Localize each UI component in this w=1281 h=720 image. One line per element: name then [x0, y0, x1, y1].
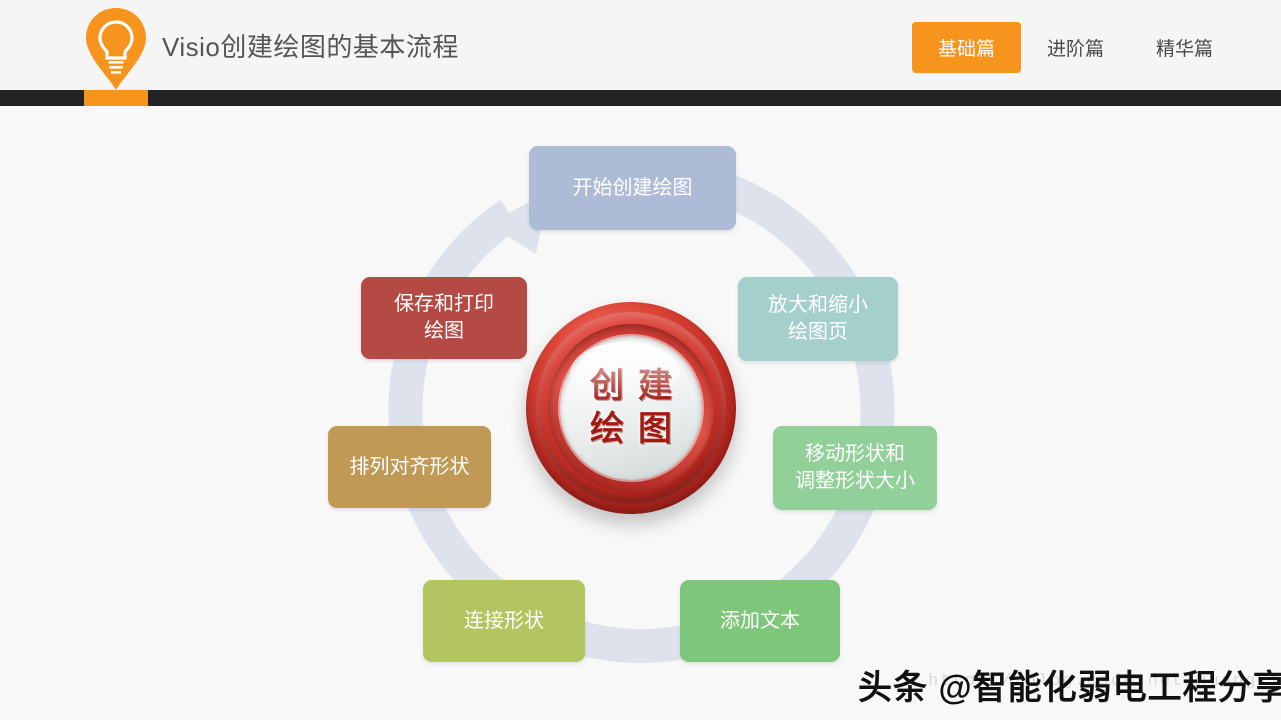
lightbulb-pin-icon: [84, 6, 148, 92]
header-divider-accent: [84, 90, 148, 106]
emblem-face: 创建 绘图: [560, 336, 702, 480]
node-start[interactable]: 开始创建绘图: [529, 146, 736, 230]
node-text[interactable]: 添加文本: [680, 580, 840, 662]
header-divider-bar: [0, 90, 1281, 106]
node-zoom[interactable]: 放大和缩小 绘图页: [738, 277, 898, 361]
brand-watermark: 头条 @智能化弱电工程分享: [858, 660, 1281, 709]
emblem-text-line2: 绘图: [576, 411, 686, 448]
center-emblem: 创建 绘图: [526, 302, 736, 514]
emblem-text-line1: 创建: [576, 368, 686, 405]
node-connect[interactable]: 连接形状: [423, 580, 585, 662]
tab-jichu[interactable]: 基础篇: [912, 22, 1021, 73]
diagram-stage: 创建 绘图 开始创建绘图 放大和缩小 绘图页 移动形状和 调整形状大小 添加文本…: [0, 106, 1281, 720]
section-tabs: 基础篇 进阶篇 精华篇: [912, 22, 1239, 73]
node-move[interactable]: 移动形状和 调整形状大小: [773, 426, 937, 510]
page-title: Visio创建绘图的基本流程: [162, 27, 459, 64]
node-save[interactable]: 保存和打印 绘图: [361, 277, 527, 359]
node-align[interactable]: 排列对齐形状: [328, 426, 491, 508]
app-header: Visio创建绘图的基本流程 基础篇 进阶篇 精华篇: [0, 0, 1281, 90]
tab-jinghua[interactable]: 精华篇: [1130, 22, 1239, 73]
tab-jinjie[interactable]: 进阶篇: [1021, 22, 1130, 73]
